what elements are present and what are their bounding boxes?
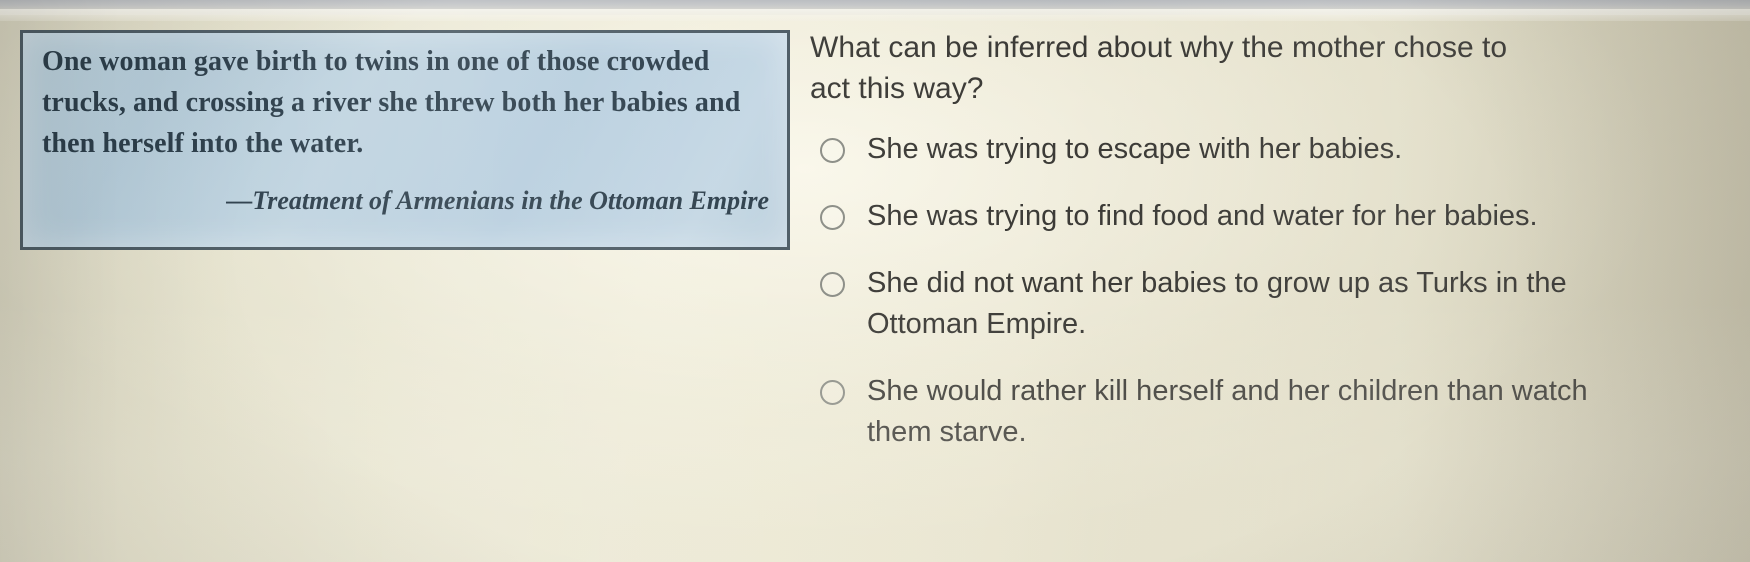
answer-option-label: She was trying to escape with her babies… (867, 129, 1402, 170)
radio-button-icon[interactable] (820, 380, 845, 405)
quote-attribution: —Treatment of Armenians in the Ottoman E… (42, 181, 771, 221)
answer-option-2[interactable]: She was trying to find food and water fo… (810, 196, 1740, 237)
answer-option-label: She did not want her babies to grow up a… (867, 263, 1627, 345)
answer-option-label: She was trying to find food and water fo… (867, 196, 1538, 237)
answer-options-list: She was trying to escape with her babies… (810, 129, 1740, 453)
screenshot-root: One woman gave birth to twins in one of … (0, 0, 1750, 562)
source-quote-content: One woman gave birth to twins in one of … (42, 41, 771, 221)
radio-button-icon[interactable] (820, 272, 845, 297)
source-quote-box: One woman gave birth to twins in one of … (20, 30, 790, 250)
answer-option-3[interactable]: She did not want her babies to grow up a… (810, 263, 1740, 345)
radio-button-icon[interactable] (820, 138, 845, 163)
top-edge-highlight (0, 9, 1750, 21)
quote-line-3: then herself into the water. (42, 123, 771, 164)
question-prompt: What can be inferred about why the mothe… (810, 27, 1550, 109)
quote-line-1: One woman gave birth to twins in one of … (42, 41, 771, 82)
answer-option-label: She would rather kill herself and her ch… (867, 371, 1627, 453)
quote-line-2: trucks, and crossing a river she threw b… (42, 82, 771, 123)
answer-option-4[interactable]: She would rather kill herself and her ch… (810, 371, 1740, 453)
radio-button-icon[interactable] (820, 205, 845, 230)
question-panel: What can be inferred about why the mothe… (810, 27, 1740, 479)
answer-option-1[interactable]: She was trying to escape with her babies… (810, 129, 1740, 170)
